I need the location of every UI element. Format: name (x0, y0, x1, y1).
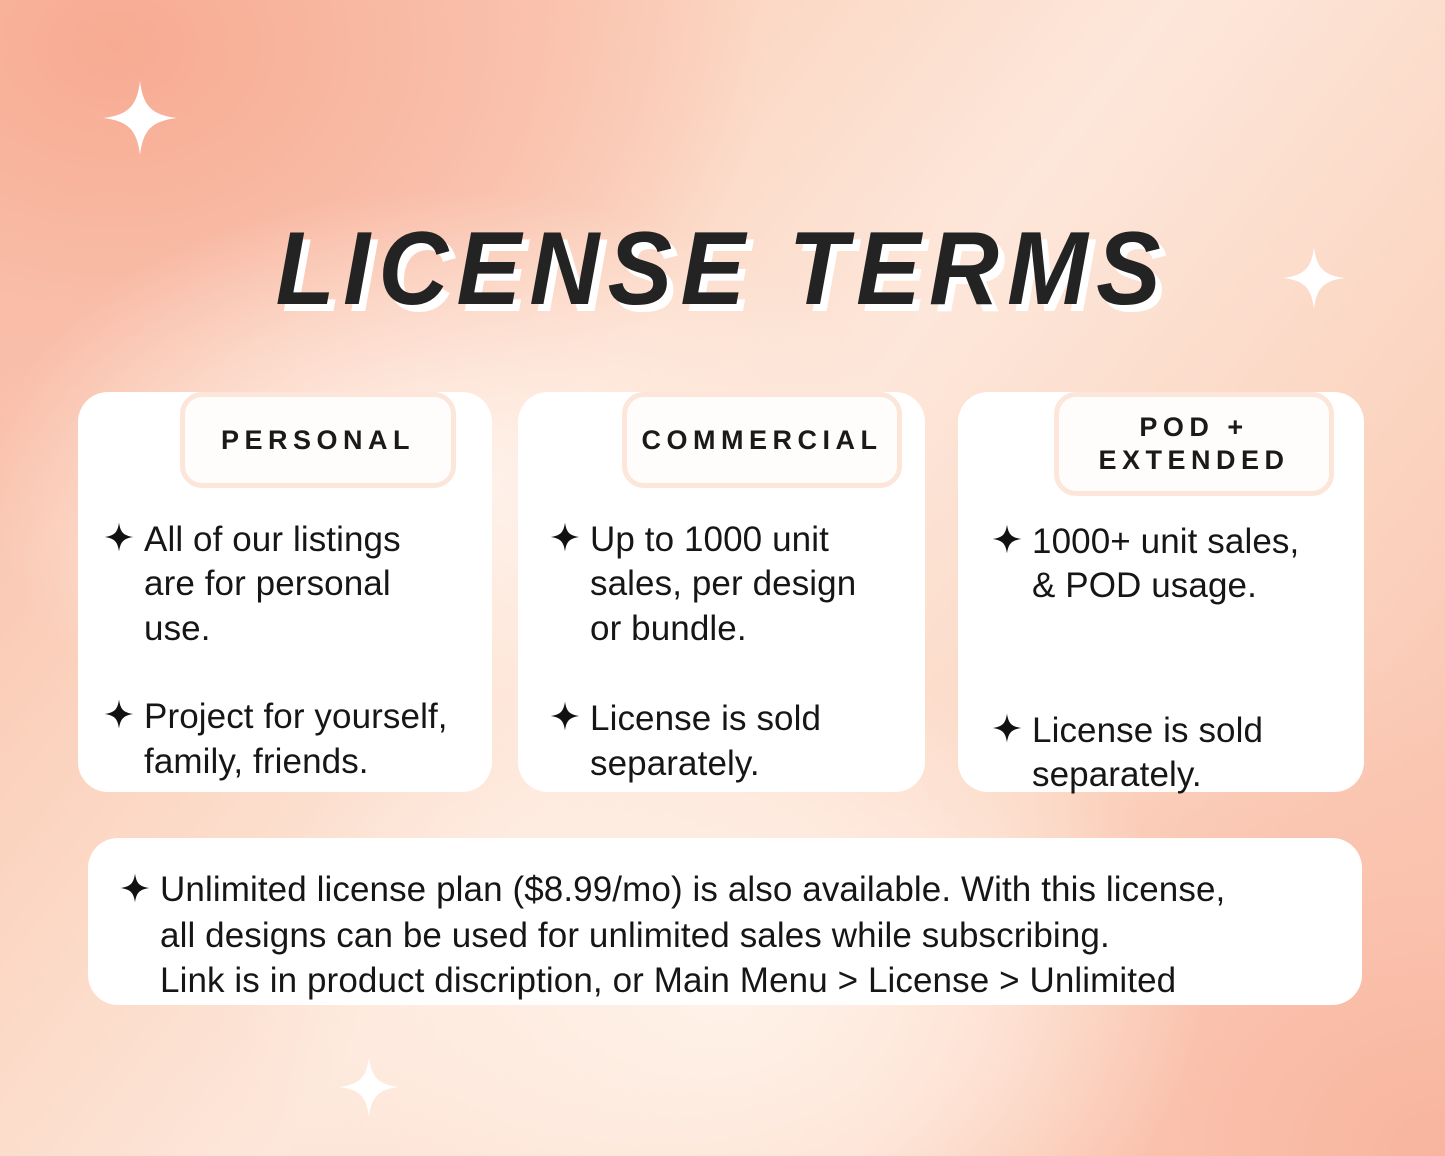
four-point-star-icon (550, 522, 580, 552)
list-item-text: Project for yourself, family, friends. (144, 695, 448, 784)
card-badge-personal: PERSONAL (180, 392, 456, 488)
card-badge-line: COMMERCIAL (642, 424, 883, 457)
license-card-pod-extended: POD + EXTENDED 1000+ unit sales, & POD u… (958, 392, 1364, 792)
four-point-star-icon (104, 522, 134, 552)
four-point-star-icon (992, 524, 1022, 554)
license-terms-poster: LICENSE TERMS PERSONAL All of our listin… (0, 0, 1445, 1156)
list-item: Project for yourself, family, friends. (104, 695, 472, 784)
four-point-star-icon (550, 701, 580, 731)
license-card-commercial: COMMERCIAL Up to 1000 unit sales, per de… (518, 392, 925, 792)
four-point-star-icon (120, 873, 150, 903)
four-point-star-icon (992, 713, 1022, 743)
list-item: License is sold separately. (550, 697, 907, 786)
list-item-text: 1000+ unit sales, & POD usage. (1032, 520, 1299, 609)
unlimited-plan-banner: Unlimited license plan ($8.99/mo) is als… (88, 838, 1362, 1005)
list-item-text: Up to 1000 unit sales, per design or bun… (590, 518, 856, 651)
list-item: All of our listings are for personal use… (104, 518, 472, 651)
list-item: License is sold separately. (992, 709, 1348, 798)
card-badge-line: PERSONAL (221, 424, 415, 457)
list-item: Up to 1000 unit sales, per design or bun… (550, 518, 907, 651)
card-badge-line: EXTENDED (1098, 444, 1289, 477)
card-badge-line: POD + (1098, 411, 1289, 444)
list-item-text: License is sold separately. (590, 697, 821, 786)
card-badge-pod-extended: POD + EXTENDED (1054, 392, 1334, 496)
card-badge-commercial: COMMERCIAL (622, 392, 902, 488)
license-feature-list-pod-extended: 1000+ unit sales, & POD usage. License i… (992, 520, 1348, 798)
license-feature-list-commercial: Up to 1000 unit sales, per design or bun… (550, 518, 907, 786)
license-card-personal: PERSONAL All of our listings are for per… (78, 392, 492, 792)
license-feature-list-personal: All of our listings are for personal use… (104, 518, 472, 784)
list-item-text: All of our listings are for personal use… (144, 518, 401, 651)
banner-row: Unlimited license plan ($8.99/mo) is als… (120, 867, 1336, 1004)
list-item: 1000+ unit sales, & POD usage. (992, 520, 1348, 609)
four-point-star-icon (104, 699, 134, 729)
list-item-text: License is sold separately. (1032, 709, 1263, 798)
banner-text: Unlimited license plan ($8.99/mo) is als… (160, 867, 1225, 1004)
